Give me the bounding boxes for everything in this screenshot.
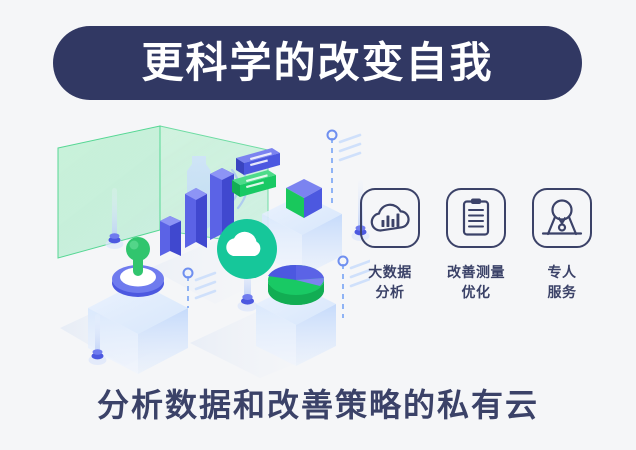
illustration [40,118,370,378]
page-title: 更科学的改变自我 [141,42,493,84]
feature-label-measurement: 改善测量 优化 [447,262,505,303]
feature-icon-box-measurement [446,188,506,248]
feature-label-support: 专人 服务 [548,262,577,303]
support-agent-icon [539,196,585,240]
cloud-bar-chart-icon [368,198,412,238]
pie-chart-3d [268,265,324,305]
feature-item-support: 专人 服务 [524,188,600,303]
footer-tagline: 分析数据和改善策略的私有云 [0,386,636,424]
feature-icon-box-big-data [360,188,420,248]
feature-label-big-data: 大数据 分析 [368,262,412,303]
clipboard-icon [456,196,496,240]
feature-item-measurement: 改善测量 优化 [438,188,514,303]
feature-list: 大数据 分析 改善测量 优化 [352,188,600,328]
header-banner: 更科学的改变自我 [53,26,582,100]
feature-icon-box-support [532,188,592,248]
promo-banner-page: 更科学的改变自我 [0,0,636,450]
feature-item-big-data: 大数据 分析 [352,188,428,303]
